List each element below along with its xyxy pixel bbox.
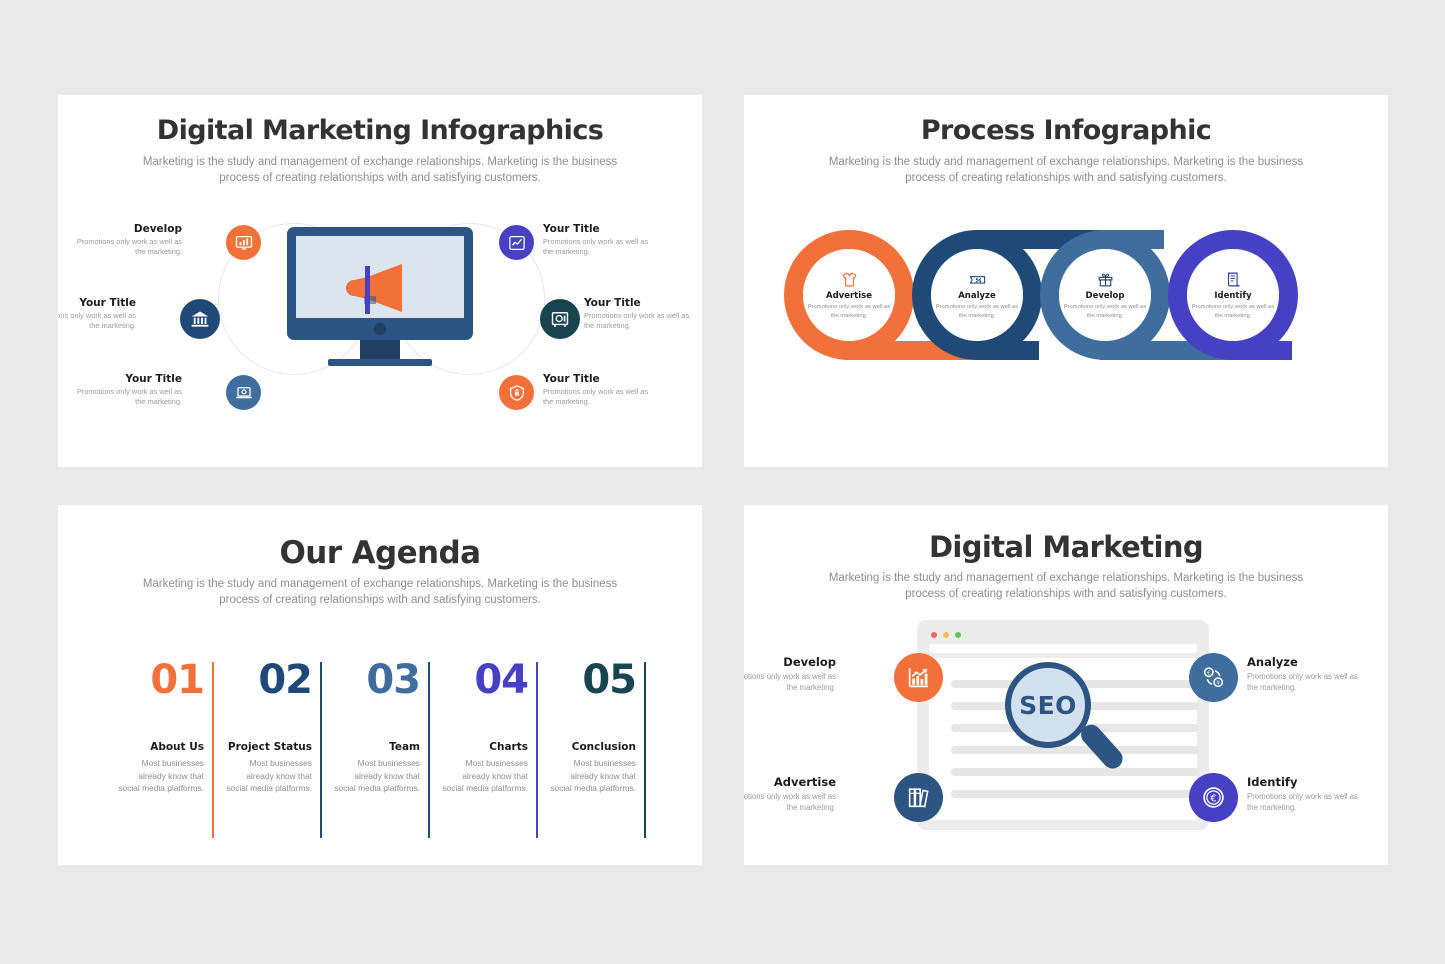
agenda-divider <box>644 662 646 838</box>
laptop-photo-icon <box>235 384 253 402</box>
slide-digital-marketing-infographics[interactable]: Digital Marketing Infographics Marketing… <box>58 95 702 467</box>
megaphone-icon <box>342 258 432 318</box>
agenda-divider <box>320 662 322 838</box>
node-title: Analyze <box>1247 655 1367 669</box>
agenda-item-about-us[interactable]: 01 About Us Most businesses already know… <box>126 660 214 840</box>
agenda-item-charts[interactable]: 04 Charts Most businesses already know t… <box>450 660 538 840</box>
shield-lock-icon <box>508 384 526 402</box>
process-step-content: Identify Promotions only work as well as… <box>1187 249 1279 341</box>
magnifier-handle <box>1077 721 1127 773</box>
node-icon-badge <box>180 299 220 339</box>
discount-tag-icon <box>969 270 986 288</box>
agenda-divider <box>212 662 214 838</box>
agenda-number: 03 <box>366 660 420 700</box>
process-chain: Advertise Promotions only work as well a… <box>784 230 1354 360</box>
browser-dot-minimize <box>943 632 949 638</box>
agenda-number: 01 <box>150 660 204 700</box>
node-title: Your Title <box>543 223 653 235</box>
node-desc: Promotions only work as well as the mark… <box>584 311 694 331</box>
node-title: Your Title <box>58 297 136 309</box>
seo-label: SEO <box>1005 662 1091 748</box>
agenda-name: Conclusion <box>548 741 636 753</box>
node-text-block: Your Title Promotions only work as well … <box>543 373 653 407</box>
agenda-item-conclusion[interactable]: 05 Conclusion Most businesses already kn… <box>558 660 646 840</box>
node-icon-badge: € ¥ <box>1189 653 1238 702</box>
process-step-content: Analyze Promotions only work as well as … <box>931 249 1023 341</box>
node-title: Develop <box>72 223 182 235</box>
page-subtitle: Marketing is the study and management of… <box>826 571 1306 602</box>
node-desc: Promotions only work as well as the mark… <box>72 387 182 407</box>
browser-dot-maximize <box>955 632 961 638</box>
node-icon-badge <box>894 653 943 702</box>
node-icon-badge <box>226 225 261 260</box>
agenda-list: 01 About Us Most businesses already know… <box>126 660 646 840</box>
seo-magnifier: SEO <box>1005 662 1130 787</box>
page-title: Digital Marketing <box>744 530 1388 564</box>
slide-our-agenda[interactable]: Our Agenda Marketing is the study and ma… <box>58 505 702 865</box>
node-title: Identify <box>1247 775 1367 789</box>
safe-vault-icon <box>550 309 570 329</box>
browser-dot-close <box>931 632 937 638</box>
page-title: Our Agenda <box>58 535 702 571</box>
process-step-label: Identify <box>1214 291 1251 301</box>
agenda-divider <box>536 662 538 838</box>
slide-process-infographic[interactable]: Process Infographic Marketing is the stu… <box>744 95 1388 467</box>
node-icon-badge: € <box>1189 773 1238 822</box>
agenda-item-project-status[interactable]: 02 Project Status Most businesses alread… <box>234 660 322 840</box>
process-step-label: Advertise <box>826 291 872 301</box>
agenda-desc: Most businesses already know that social… <box>224 757 312 795</box>
browser-window-illustration: SEO <box>917 620 1209 830</box>
bank-icon <box>190 309 210 329</box>
node-desc: Promotions only work as well as the mark… <box>543 237 653 257</box>
process-step-content: Develop Promotions only work as well as … <box>1059 249 1151 341</box>
node-text-block: Your Title Promotions only work as well … <box>543 223 653 257</box>
agenda-desc: Most businesses already know that social… <box>440 757 528 795</box>
node-title: Your Title <box>72 373 182 385</box>
document-icon <box>1225 270 1242 288</box>
process-step-desc: Promotions only work as well as the mark… <box>803 303 895 319</box>
monitor-chart-icon <box>235 234 253 252</box>
agenda-name: Team <box>332 741 420 753</box>
agenda-number: 04 <box>474 660 528 700</box>
svg-text:€: € <box>1210 793 1216 804</box>
process-step-desc: Promotions only work as well as the mark… <box>1059 303 1151 319</box>
process-step-analyze[interactable]: Analyze Promotions only work as well as … <box>912 230 1042 360</box>
node-title: Your Title <box>543 373 653 385</box>
process-step-label: Analyze <box>958 291 996 301</box>
process-step-desc: Promotions only work as well as the mark… <box>931 303 1023 319</box>
node-text-block: Develop Promotions only work as well as … <box>72 223 182 257</box>
agenda-desc: Most businesses already know that social… <box>116 757 204 795</box>
node-desc: Promotions only work as well as the mark… <box>744 672 836 694</box>
node-icon-badge <box>540 299 580 339</box>
node-icon-badge <box>894 773 943 822</box>
agenda-desc: Most businesses already know that social… <box>548 757 636 795</box>
process-step-develop[interactable]: Develop Promotions only work as well as … <box>1040 230 1170 360</box>
node-title: Your Title <box>584 297 694 309</box>
node-desc: Promotions only work as well as the mark… <box>543 387 653 407</box>
page-title: Digital Marketing Infographics <box>58 115 702 146</box>
agenda-name: Project Status <box>224 741 312 753</box>
node-text-block: Develop Promotions only work as well as … <box>744 655 836 694</box>
slide-deck-canvas: Digital Marketing Infographics Marketing… <box>0 0 1445 964</box>
browser-url-bar[interactable] <box>929 644 1197 653</box>
books-icon <box>906 785 931 810</box>
line-chart-icon <box>508 234 526 252</box>
page-subtitle: Marketing is the study and management of… <box>140 577 620 608</box>
node-desc: Promotions only work as well as the mark… <box>72 237 182 257</box>
node-text-block: Identify Promotions only work as well as… <box>1247 775 1367 814</box>
node-icon-badge <box>499 375 534 410</box>
shirt-icon <box>841 270 858 288</box>
node-text-block: Advertise Promotions only work as well a… <box>744 775 836 814</box>
process-step-advertise[interactable]: Advertise Promotions only work as well a… <box>784 230 914 360</box>
svg-text:€: € <box>1207 671 1210 677</box>
node-text-block: Your Title Promotions only work as well … <box>58 297 136 331</box>
node-icon-badge <box>226 375 261 410</box>
agenda-name: Charts <box>440 741 528 753</box>
node-text-block: Your Title Promotions only work as well … <box>72 373 182 407</box>
euro-coin-icon: € <box>1201 785 1226 810</box>
page-subtitle: Marketing is the study and management of… <box>140 155 620 186</box>
process-step-identify[interactable]: Identify Promotions only work as well as… <box>1168 230 1298 360</box>
node-desc: Promotions only work as well as the mark… <box>1247 792 1367 814</box>
node-title: Develop <box>744 655 836 669</box>
agenda-name: About Us <box>116 741 204 753</box>
page-subtitle: Marketing is the study and management of… <box>826 155 1306 186</box>
slide-digital-marketing-seo[interactable]: Digital Marketing Marketing is the study… <box>744 505 1388 865</box>
node-title: Advertise <box>744 775 836 789</box>
gift-icon <box>1097 270 1114 288</box>
agenda-divider <box>428 662 430 838</box>
node-desc: Promotions only work as well as the mark… <box>1247 672 1367 694</box>
content-line <box>951 790 1199 798</box>
currency-exchange-icon: € ¥ <box>1201 665 1226 690</box>
process-step-content: Advertise Promotions only work as well a… <box>803 249 895 341</box>
node-text-block: Analyze Promotions only work as well as … <box>1247 655 1367 694</box>
process-step-label: Develop <box>1086 291 1125 301</box>
agenda-number: 05 <box>582 660 636 700</box>
bar-chart-arrow-icon <box>906 665 931 690</box>
monitor-megaphone-illustration <box>287 227 473 366</box>
node-desc: Promotions only work as well as the mark… <box>58 311 136 331</box>
page-title: Process Infographic <box>744 115 1388 146</box>
process-step-desc: Promotions only work as well as the mark… <box>1187 303 1279 319</box>
agenda-desc: Most businesses already know that social… <box>332 757 420 795</box>
agenda-item-team[interactable]: 03 Team Most businesses already know tha… <box>342 660 430 840</box>
node-icon-badge <box>499 225 534 260</box>
node-desc: Promotions only work as well as the mark… <box>744 792 836 814</box>
agenda-number: 02 <box>258 660 312 700</box>
node-text-block: Your Title Promotions only work as well … <box>584 297 694 331</box>
